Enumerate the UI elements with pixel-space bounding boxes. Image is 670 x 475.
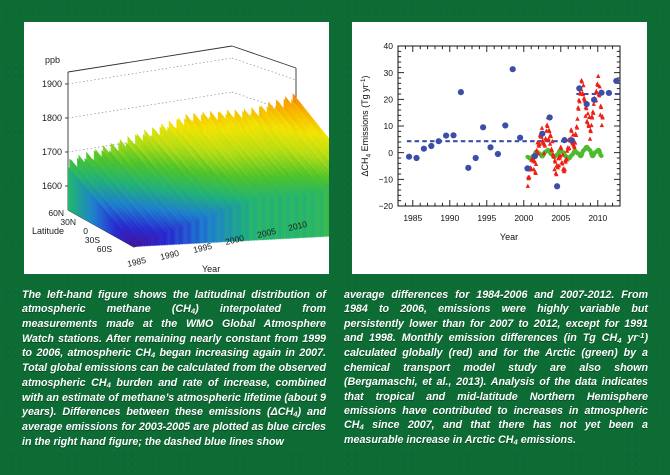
surface-cell [319, 191, 321, 237]
surface-cell [276, 193, 277, 239]
surface-cell [310, 192, 311, 238]
surface-cell [316, 189, 317, 237]
surface-cell [201, 214, 203, 243]
surface-cell [252, 196, 254, 240]
surface-cell [295, 195, 296, 239]
surface-cell [296, 195, 297, 238]
surface-cell [246, 202, 247, 242]
surface-cell [312, 194, 313, 238]
surface-cell [298, 193, 300, 239]
surface-cell [299, 191, 300, 239]
surface-cell [322, 189, 323, 237]
surface-cell [280, 196, 281, 239]
surface-cell [220, 210, 221, 242]
surface-cell [247, 200, 249, 241]
surface-cell [309, 190, 311, 238]
methane-surface-plot: ppb 1900 1800 1700 1600 60N 30N 0 30S 60… [24, 22, 329, 274]
surface-cell [217, 208, 219, 242]
figure-page: ppb 1900 1800 1700 1600 60N 30N 0 30S 60… [0, 0, 670, 475]
figure-panels: ppb 1900 1800 1700 1600 60N 30N 0 30S 60… [0, 0, 670, 283]
surface-cell [211, 212, 212, 243]
surface-cell [318, 190, 320, 238]
surface-cell [313, 193, 315, 237]
surface-cell [200, 215, 201, 243]
surface-cell [307, 191, 308, 238]
surface-cell [212, 214, 214, 243]
surface-cell [327, 188, 328, 237]
surface-cell [306, 193, 307, 238]
surface-cell [203, 216, 204, 243]
surface-plot-svg: ppb 1900 1800 1700 1600 60N 30N 0 30S 60… [24, 22, 329, 274]
surface-cell [304, 195, 306, 238]
surface-cell [209, 211, 210, 243]
surface-cell [206, 216, 207, 243]
surface-cell [321, 192, 322, 237]
surface-cell [325, 186, 326, 237]
surface-cell [214, 214, 215, 243]
surface-cell [283, 192, 285, 239]
surface-cell [324, 187, 326, 237]
surface-cell [302, 193, 304, 238]
surface-cell [205, 217, 206, 243]
surface-cell [286, 194, 287, 239]
surface-cell [301, 191, 302, 238]
surface-cell [244, 200, 245, 241]
surface-cell [278, 196, 280, 240]
surface-cell [221, 211, 223, 242]
surface-cell [198, 218, 199, 244]
surface-cell [315, 191, 316, 237]
surface-cell [197, 220, 199, 243]
surface-cell [218, 208, 219, 242]
surface-cell [328, 189, 329, 237]
left-figure-panel: ppb 1900 1800 1700 1600 60N 30N 0 30S 60… [24, 22, 329, 274]
surface-cell [254, 198, 255, 240]
surface-cell [284, 192, 285, 239]
surface-cell [215, 211, 216, 243]
surface-cell [249, 197, 250, 241]
surface-cell [250, 196, 251, 241]
surface-cell [208, 213, 210, 243]
surface-cell [281, 195, 282, 240]
